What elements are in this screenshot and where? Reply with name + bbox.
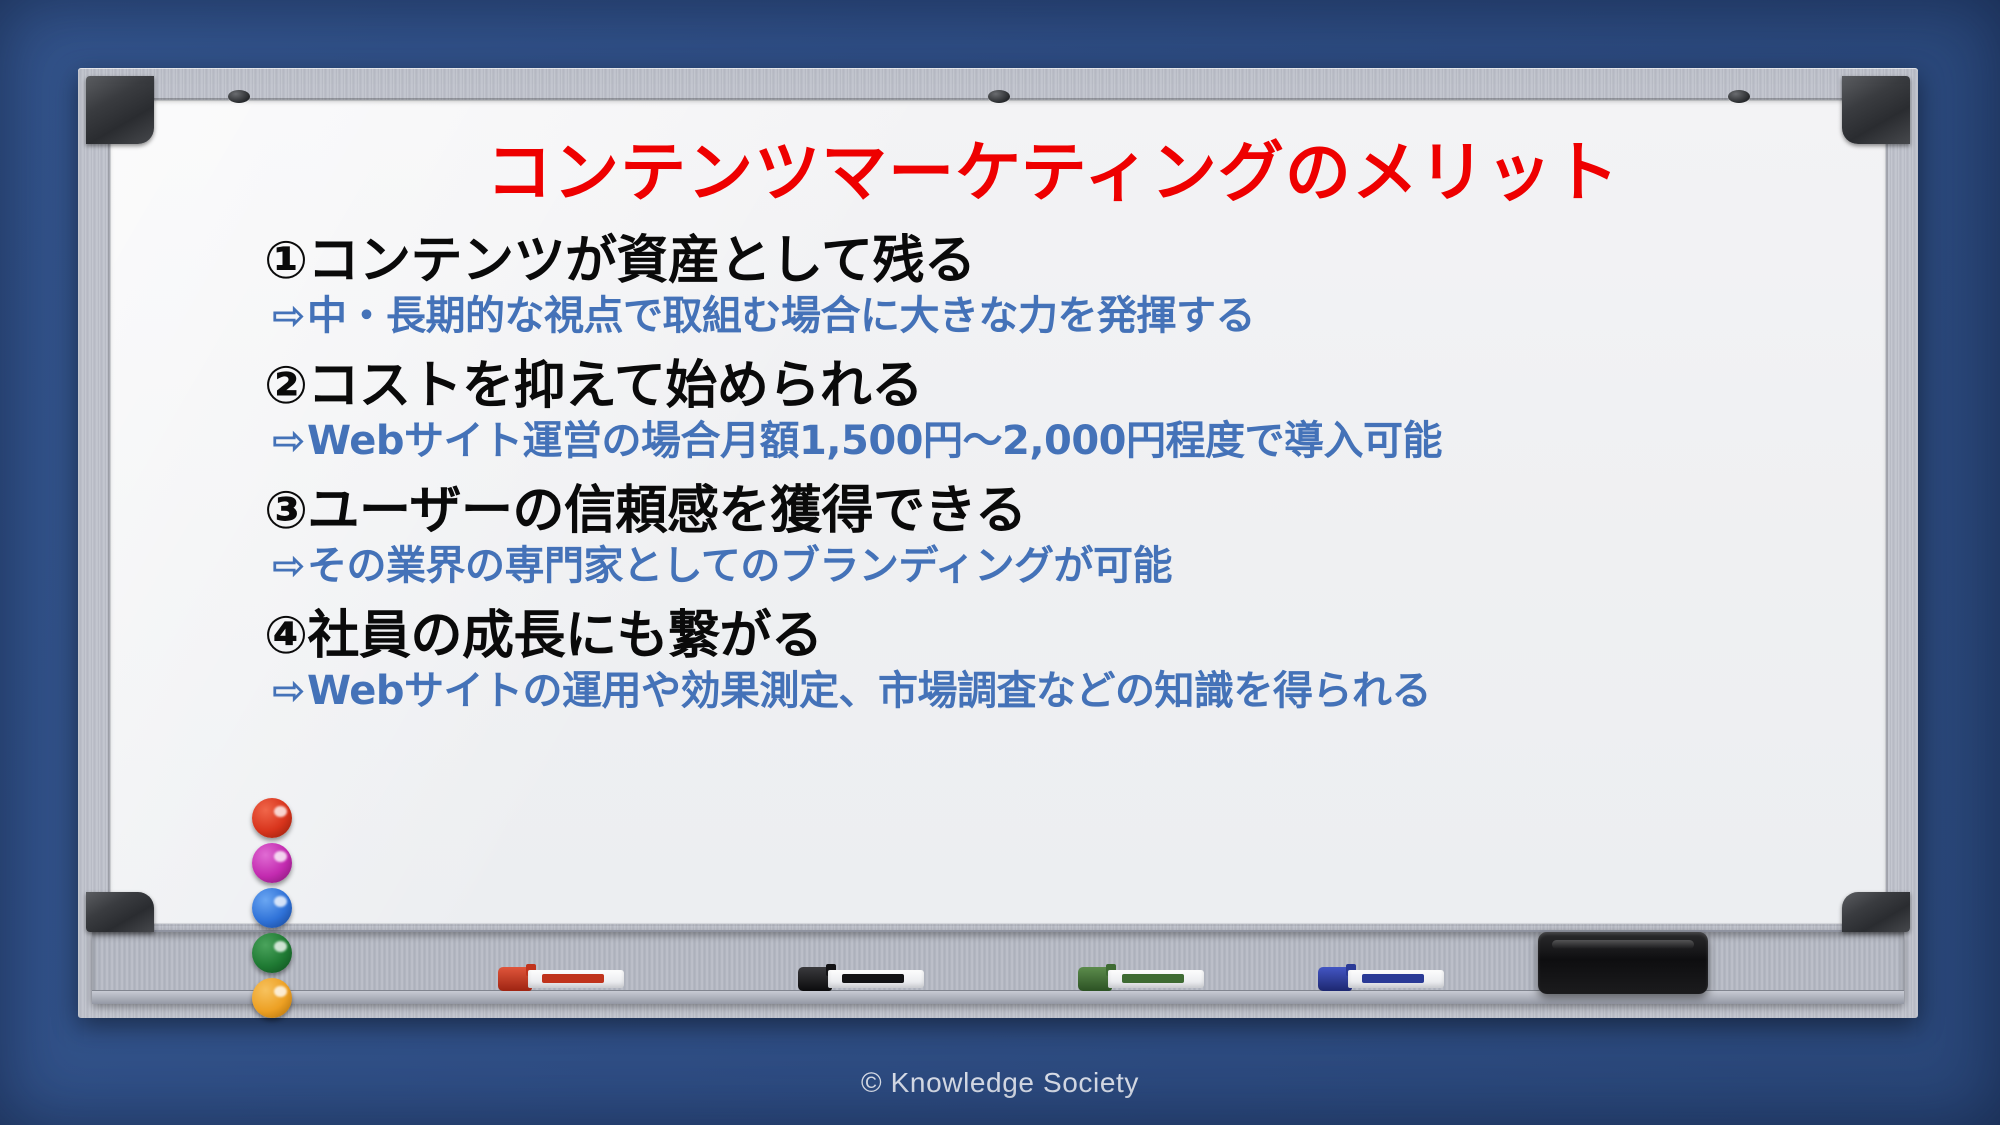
marker-band: [1362, 974, 1424, 983]
corner-bracket-top-left: [86, 76, 154, 144]
arrow-icon: ⇨: [272, 418, 305, 464]
benefit-item-1: ①コンテンツが資産として残る ⇨中・長期的な視点で取組む場合に大きな力を発揮する: [228, 232, 1878, 341]
benefit-detail-3: ⇨その業界の専門家としてのブランディングが可能: [228, 542, 1878, 591]
arrow-icon: ⇨: [272, 293, 305, 339]
frame-screw: [1728, 90, 1750, 103]
benefit-detail-text-4: Webサイトの運用や効果測定、市場調査などの知識を得られる: [307, 668, 1431, 714]
benefit-detail-2: ⇨Webサイト運営の場合月額1,500円～2,000円程度で導入可能: [228, 417, 1878, 466]
benefit-detail-text-3: その業界の専門家としてのブランディングが可能: [307, 543, 1172, 589]
magnet-magenta[interactable]: [252, 843, 292, 883]
slide-canvas: コンテンツマーケティングのメリット ①コンテンツが資産として残る ⇨中・長期的な…: [0, 0, 2000, 1125]
benefit-heading-2: ②コストを抑えて始められる: [228, 357, 1878, 415]
benefit-item-4: ④社員の成長にも繋がる ⇨Webサイトの運用や効果測定、市場調査などの知識を得ら…: [228, 607, 1878, 716]
benefit-heading-1: ①コンテンツが資産として残る: [228, 232, 1878, 290]
benefit-heading-4: ④社員の成長にも繋がる: [228, 607, 1878, 665]
arrow-icon: ⇨: [272, 543, 305, 589]
magnet-orange[interactable]: [252, 978, 292, 1018]
marker-band: [1122, 974, 1184, 983]
benefit-item-3: ③ユーザーの信頼感を獲得できる ⇨その業界の専門家としてのブランディングが可能: [228, 482, 1878, 591]
arrow-icon: ⇨: [272, 668, 305, 714]
benefit-item-2: ②コストを抑えて始められる ⇨Webサイト運営の場合月額1,500円～2,000…: [228, 357, 1878, 466]
benefit-detail-1: ⇨中・長期的な視点で取組む場合に大きな力を発揮する: [228, 292, 1878, 341]
slide-content: コンテンツマーケティングのメリット ①コンテンツが資産として残る ⇨中・長期的な…: [228, 128, 1878, 948]
benefit-detail-text-2: Webサイト運営の場合月額1,500円～2,000円程度で導入可能: [307, 418, 1442, 464]
magnet-blue[interactable]: [252, 888, 292, 928]
marker-band: [542, 974, 604, 983]
benefit-detail-4: ⇨Webサイトの運用や効果測定、市場調査などの知識を得られる: [228, 667, 1878, 716]
page-title: コンテンツマーケティングのメリット: [228, 140, 1878, 206]
benefit-heading-3: ③ユーザーの信頼感を獲得できる: [228, 482, 1878, 540]
magnet-red[interactable]: [252, 798, 292, 838]
benefit-detail-text-1: 中・長期的な視点で取組む場合に大きな力を発揮する: [307, 293, 1255, 339]
magnet-strip: [252, 798, 292, 1023]
marker-band: [842, 974, 904, 983]
frame-screw: [228, 90, 250, 103]
frame-screw: [988, 90, 1010, 103]
corner-bracket-bottom-left: [86, 892, 154, 932]
magnet-green[interactable]: [252, 933, 292, 973]
whiteboard: コンテンツマーケティングのメリット ①コンテンツが資産として残る ⇨中・長期的な…: [78, 68, 1918, 1018]
footer-copyright: © Knowledge Society: [0, 1067, 2000, 1099]
